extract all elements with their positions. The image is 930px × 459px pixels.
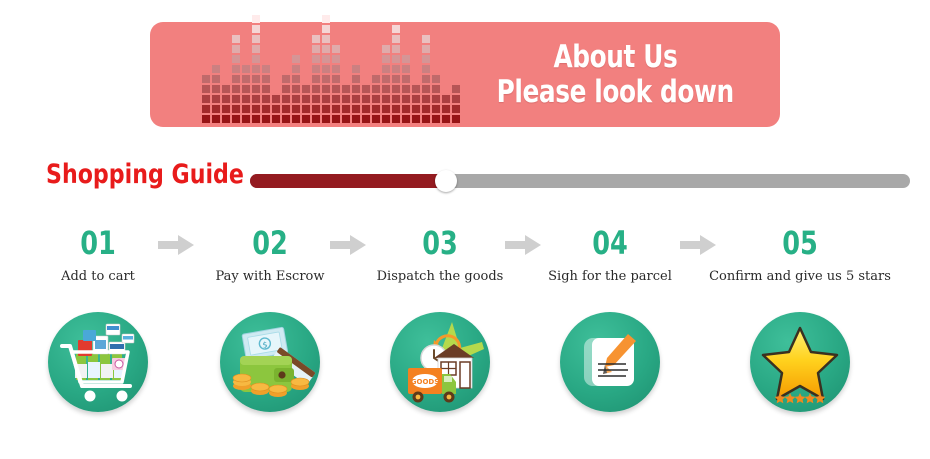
equalizer-cell xyxy=(392,25,400,33)
steps-row: 01 02 03 04 05 Add to cart Pay with Escr… xyxy=(0,225,930,295)
equalizer-cell xyxy=(322,15,330,23)
equalizer-cell xyxy=(372,85,380,93)
equalizer-cell xyxy=(412,115,420,123)
equalizer-cell xyxy=(402,85,410,93)
equalizer-cell xyxy=(222,95,230,103)
equalizer-cell xyxy=(402,55,410,63)
equalizer-cell xyxy=(332,65,340,73)
equalizer-cell xyxy=(232,105,240,113)
equalizer-cell xyxy=(322,115,330,123)
equalizer-cell xyxy=(382,105,390,113)
arrow-right-icon xyxy=(330,235,366,255)
equalizer-cell xyxy=(342,85,350,93)
equalizer-cell xyxy=(312,45,320,53)
progress-knob-handle[interactable] xyxy=(435,170,457,192)
equalizer-cell xyxy=(322,25,330,33)
equalizer-cell xyxy=(422,95,430,103)
equalizer-cell xyxy=(282,75,290,83)
step-icons-row: $ xyxy=(0,312,930,422)
equalizer-cell xyxy=(442,115,450,123)
equalizer-cell xyxy=(432,95,440,103)
equalizer-bar xyxy=(362,85,370,123)
equalizer-cell xyxy=(252,85,260,93)
equalizer-cell xyxy=(422,75,430,83)
equalizer-cell xyxy=(312,75,320,83)
equalizer-cell xyxy=(332,75,340,83)
step-number-04: 04 xyxy=(562,225,658,261)
equalizer-cell xyxy=(242,75,250,83)
equalizer-cell xyxy=(252,95,260,103)
equalizer-cell xyxy=(302,95,310,103)
equalizer-cell xyxy=(292,55,300,63)
equalizer-cell xyxy=(282,85,290,93)
equalizer-cell xyxy=(272,115,280,123)
equalizer-bar xyxy=(412,85,420,123)
equalizer-cell xyxy=(222,105,230,113)
step-number-02: 02 xyxy=(222,225,318,261)
banner-text-block: About Us Please look down xyxy=(450,22,780,127)
banner-title-line2: Please look down xyxy=(496,74,733,110)
equalizer-bar xyxy=(282,75,290,123)
equalizer-cell xyxy=(252,65,260,73)
equalizer-cell xyxy=(402,75,410,83)
svg-text:GOODS: GOODS xyxy=(411,378,440,386)
equalizer-cell xyxy=(262,115,270,123)
banner-title-line1: About Us xyxy=(553,40,677,74)
equalizer-cell xyxy=(232,45,240,53)
equalizer-cell xyxy=(332,95,340,103)
equalizer-cell xyxy=(412,105,420,113)
equalizer-cell xyxy=(272,95,280,103)
shopping-cart-with-products-icon xyxy=(48,312,148,412)
equalizer-bar xyxy=(322,15,330,123)
equalizer-cell xyxy=(382,75,390,83)
equalizer-bar xyxy=(422,35,430,123)
equalizer-cell xyxy=(252,35,260,43)
equalizer-bar xyxy=(262,65,270,123)
equalizer-cell xyxy=(282,105,290,113)
equalizer-cell xyxy=(392,85,400,93)
equalizer-cell xyxy=(432,85,440,93)
equalizer-cell xyxy=(332,115,340,123)
arrow-right-icon xyxy=(680,235,716,255)
shopping-guide-title: Shopping Guide xyxy=(46,160,244,190)
progress-bar[interactable] xyxy=(250,174,910,188)
equalizer-cell xyxy=(402,65,410,73)
equalizer-cell xyxy=(322,45,330,53)
equalizer-cell xyxy=(312,85,320,93)
equalizer-bar xyxy=(332,45,340,123)
equalizer-cell xyxy=(262,105,270,113)
equalizer-cell xyxy=(222,115,230,123)
equalizer-cell xyxy=(322,55,330,63)
step-number-03: 03 xyxy=(392,225,488,261)
equalizer-cell xyxy=(242,105,250,113)
equalizer-cell xyxy=(412,85,420,93)
equalizer-cell xyxy=(212,105,220,113)
equalizer-cell xyxy=(422,65,430,73)
equalizer-bar xyxy=(232,35,240,123)
equalizer-bar xyxy=(382,45,390,123)
equalizer-cell xyxy=(252,25,260,33)
equalizer-cell xyxy=(392,95,400,103)
equalizer-cell xyxy=(382,85,390,93)
equalizer-cell xyxy=(392,105,400,113)
step-label-05: Confirm and give us 5 stars xyxy=(685,269,915,285)
equalizer-cell xyxy=(252,45,260,53)
equalizer-cell xyxy=(292,75,300,83)
equalizer-cell xyxy=(232,65,240,73)
equalizer-bar xyxy=(222,85,230,123)
equalizer-cell xyxy=(442,95,450,103)
equalizer-cell xyxy=(372,105,380,113)
gold-star-rating-icon xyxy=(750,312,850,412)
equalizer-cell xyxy=(242,115,250,123)
equalizer-cell xyxy=(392,65,400,73)
equalizer-cell xyxy=(262,65,270,73)
equalizer-cell xyxy=(372,95,380,103)
equalizer-cell xyxy=(252,55,260,63)
equalizer-cell xyxy=(312,65,320,73)
equalizer-cell xyxy=(382,65,390,73)
equalizer-cell xyxy=(322,105,330,113)
equalizer-cell xyxy=(382,115,390,123)
equalizer-cell xyxy=(392,75,400,83)
equalizer-cell xyxy=(272,105,280,113)
equalizer-cell xyxy=(352,85,360,93)
equalizer-cell xyxy=(212,85,220,93)
equalizer-cell xyxy=(292,85,300,93)
equalizer-cell xyxy=(372,75,380,83)
equalizer-cell xyxy=(382,95,390,103)
equalizer-cell xyxy=(322,85,330,93)
equalizer-cell xyxy=(312,115,320,123)
equalizer-cell xyxy=(252,115,260,123)
equalizer-cell xyxy=(392,115,400,123)
equalizer-cell xyxy=(432,75,440,83)
equalizer-cell xyxy=(392,35,400,43)
equalizer-bar xyxy=(442,95,450,123)
equalizer-cell xyxy=(362,95,370,103)
equalizer-bar xyxy=(212,65,220,123)
equalizer-cell xyxy=(312,35,320,43)
equalizer-cell xyxy=(212,95,220,103)
equalizer-cell xyxy=(432,105,440,113)
equalizer-cell xyxy=(292,115,300,123)
equalizer-cell xyxy=(242,65,250,73)
equalizer-cell xyxy=(252,105,260,113)
equalizer-cell xyxy=(392,45,400,53)
equalizer-bar xyxy=(432,75,440,123)
equalizer-bar xyxy=(342,85,350,123)
equalizer-cell xyxy=(242,85,250,93)
equalizer-cell xyxy=(442,105,450,113)
equalizer-cell xyxy=(292,105,300,113)
equalizer-cell xyxy=(242,95,250,103)
delivery-truck-plane-house-icon: GOODS xyxy=(390,312,490,412)
equalizer-bar xyxy=(402,55,410,123)
equalizer-cell xyxy=(352,75,360,83)
equalizer-cell xyxy=(332,105,340,113)
equalizer-cell xyxy=(332,55,340,63)
equalizer-cell xyxy=(352,95,360,103)
equalizer-cell xyxy=(412,95,420,103)
equalizer-cell xyxy=(282,115,290,123)
document-pencil-sign-icon xyxy=(560,312,660,412)
equalizer-cell xyxy=(352,115,360,123)
about-us-page: About Us Please look down Shopping Guide… xyxy=(0,0,930,459)
equalizer-cell xyxy=(282,95,290,103)
equalizer-cell xyxy=(312,95,320,103)
equalizer-cell xyxy=(422,55,430,63)
equalizer-cell xyxy=(362,85,370,93)
equalizer-bar xyxy=(292,55,300,123)
equalizer-cell xyxy=(212,75,220,83)
equalizer-cell xyxy=(352,65,360,73)
equalizer-cell xyxy=(202,75,210,83)
equalizer-cell xyxy=(422,115,430,123)
equalizer-cell xyxy=(342,95,350,103)
equalizer-cell xyxy=(422,45,430,53)
progress-fill xyxy=(250,174,450,188)
equalizer-cell xyxy=(252,75,260,83)
equalizer-cell xyxy=(232,85,240,93)
equalizer-cell xyxy=(232,35,240,43)
equalizer-cell xyxy=(232,115,240,123)
equalizer-cell xyxy=(262,75,270,83)
equalizer-bar xyxy=(202,75,210,123)
equalizer-cell xyxy=(402,95,410,103)
equalizer-bars-icon xyxy=(202,28,427,123)
equalizer-cell xyxy=(432,115,440,123)
equalizer-cell xyxy=(322,65,330,73)
equalizer-cell xyxy=(342,115,350,123)
equalizer-cell xyxy=(422,35,430,43)
equalizer-bar xyxy=(352,65,360,123)
arrow-right-icon xyxy=(505,235,541,255)
equalizer-cell xyxy=(322,75,330,83)
equalizer-bar xyxy=(392,25,400,123)
equalizer-bar xyxy=(272,95,280,123)
equalizer-cell xyxy=(392,55,400,63)
equalizer-cell xyxy=(352,105,360,113)
shopping-guide-row: Shopping Guide xyxy=(0,158,930,204)
wallet-money-coins-icon: $ xyxy=(220,312,320,412)
equalizer-cell xyxy=(322,95,330,103)
equalizer-cell xyxy=(422,85,430,93)
equalizer-cell xyxy=(212,65,220,73)
equalizer-cell xyxy=(342,105,350,113)
step-number-01: 01 xyxy=(50,225,146,261)
equalizer-cell xyxy=(302,115,310,123)
equalizer-bar xyxy=(372,75,380,123)
equalizer-cell xyxy=(362,105,370,113)
equalizer-cell xyxy=(312,55,320,63)
equalizer-cell xyxy=(202,115,210,123)
equalizer-cell xyxy=(232,95,240,103)
equalizer-bar xyxy=(312,35,320,123)
equalizer-cell xyxy=(232,75,240,83)
equalizer-cell xyxy=(362,115,370,123)
equalizer-cell xyxy=(372,115,380,123)
equalizer-cell xyxy=(302,105,310,113)
equalizer-cell xyxy=(382,55,390,63)
equalizer-cell xyxy=(332,45,340,53)
equalizer-cell xyxy=(202,105,210,113)
equalizer-cell xyxy=(302,85,310,93)
equalizer-cell xyxy=(422,105,430,113)
equalizer-cell xyxy=(202,95,210,103)
equalizer-cell xyxy=(402,115,410,123)
arrow-right-icon xyxy=(158,235,194,255)
equalizer-cell xyxy=(292,65,300,73)
equalizer-bar xyxy=(252,15,260,123)
equalizer-cell xyxy=(232,55,240,63)
equalizer-cell xyxy=(262,85,270,93)
equalizer-cell xyxy=(252,15,260,23)
equalizer-cell xyxy=(322,35,330,43)
equalizer-cell xyxy=(262,95,270,103)
equalizer-cell xyxy=(292,95,300,103)
equalizer-cell xyxy=(402,105,410,113)
equalizer-cell xyxy=(222,85,230,93)
step-number-05: 05 xyxy=(752,225,848,261)
equalizer-cell xyxy=(312,105,320,113)
equalizer-cell xyxy=(212,115,220,123)
about-us-banner: About Us Please look down xyxy=(150,22,780,127)
equalizer-bar xyxy=(302,85,310,123)
equalizer-cell xyxy=(202,85,210,93)
equalizer-bar xyxy=(242,65,250,123)
equalizer-cell xyxy=(332,85,340,93)
equalizer-cell xyxy=(382,45,390,53)
